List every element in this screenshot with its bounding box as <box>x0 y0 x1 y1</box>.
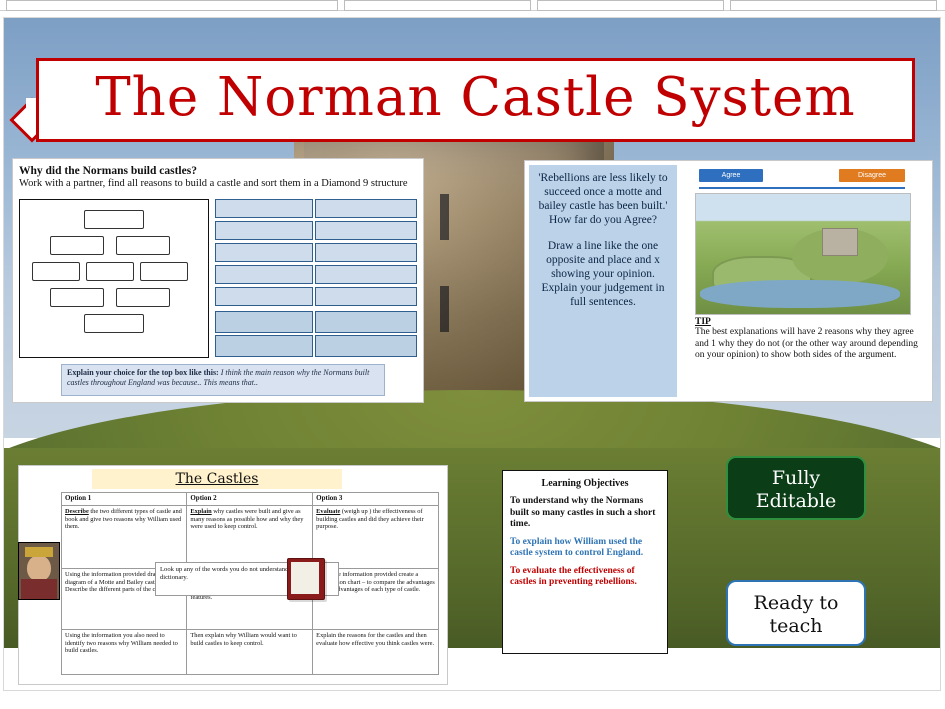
objective-3: To evaluate the effectiveness of castles… <box>503 563 667 592</box>
column-header: Option 3 <box>313 493 439 506</box>
disagree-label: Disagree <box>839 169 905 182</box>
portrait-face <box>27 555 51 581</box>
table-cell: Describe the two different types of cast… <box>62 506 187 569</box>
fully-editable-line2: Editable <box>728 490 864 513</box>
slide-canvas: The Norman Castle System Why did the Nor… <box>3 17 941 691</box>
tip-block: TIP The best explanations will have 2 re… <box>695 317 919 362</box>
opinion-prompt: 'Rebellions are less likely to succeed o… <box>529 165 677 233</box>
opinion-line <box>699 187 905 189</box>
worksheet-body <box>19 199 417 356</box>
cell-lead: Describe <box>65 508 89 515</box>
column-header: Option 2 <box>187 493 313 506</box>
opinion-line-card: 'Rebellions are less likely to succeed o… <box>524 160 933 402</box>
page-top-strip <box>0 0 945 11</box>
table-row: Describe the two different types of cast… <box>62 506 439 569</box>
diamond-cell <box>50 288 104 307</box>
objective-1: To understand why the Normans built so m… <box>503 493 667 534</box>
castles-title-box: The Castles <box>92 469 342 489</box>
grid-cell <box>215 335 313 357</box>
grid-cell <box>215 243 313 262</box>
worksheet-heading: Why did the Normans build castles? <box>13 159 423 177</box>
fully-editable-line1: Fully <box>728 467 864 490</box>
diamond-cell <box>32 262 80 281</box>
motte-and-bailey-illustration <box>695 193 911 315</box>
cell-lead: Evaluate <box>316 508 340 515</box>
ready-line1: Ready to <box>728 592 864 615</box>
page-title: The Norman Castle System <box>39 57 912 139</box>
grid-cell <box>315 311 417 333</box>
objective-2: To explain how William used the castle s… <box>503 534 667 563</box>
ready-line2: teach <box>728 615 864 638</box>
grid-cell <box>315 243 417 262</box>
worksheet-footer-label: Explain your choice for the top box like… <box>67 368 219 377</box>
grid-cell <box>315 221 417 240</box>
tip-text: The best explanations will have 2 reason… <box>695 327 919 362</box>
grid-cell <box>315 199 417 218</box>
king-william-portrait <box>18 542 60 600</box>
castles-task-card: The Castles Option 1 Option 2 Option 3 D… <box>18 465 448 685</box>
diamond-cell <box>84 314 144 333</box>
cell-lead: Explain <box>190 508 211 515</box>
ready-to-teach-badge: Ready to teach <box>726 580 866 646</box>
table-header-row: Option 1 Option 2 Option 3 <box>62 493 439 506</box>
learning-objectives-card: Learning Objectives To understand why th… <box>502 470 668 654</box>
reasons-grid <box>215 199 417 356</box>
objectives-heading: Learning Objectives <box>503 471 667 493</box>
moat-water <box>700 280 900 308</box>
dictionary-book-icon <box>287 552 327 600</box>
opinion-task: Draw a line like the one opposite and pl… <box>529 233 677 315</box>
grid-cell <box>215 199 313 218</box>
table-cell: Explain the reasons for the castles and … <box>313 630 439 675</box>
top-strip-segment <box>344 0 531 11</box>
tip-heading: TIP <box>695 317 919 327</box>
slide: The Norman Castle System Why did the Nor… <box>0 14 945 694</box>
opinion-prompt-panel: 'Rebellions are less likely to succeed o… <box>529 165 677 397</box>
fully-editable-badge: Fully Editable <box>726 456 866 520</box>
opinion-visual-panel: Agree Disagree TIP The best explanations… <box>681 165 928 397</box>
worksheet-footer-box: Explain your choice for the top box like… <box>61 364 385 396</box>
grid-cell <box>215 311 313 333</box>
top-strip-segment <box>730 0 937 11</box>
agree-label: Agree <box>699 169 763 182</box>
column-header: Option 1 <box>62 493 187 506</box>
worksheet-instruction: Work with a partner, find all reasons to… <box>13 177 423 193</box>
keep-tower-shape <box>822 228 858 256</box>
top-strip-segment <box>537 0 724 11</box>
grid-cell <box>315 335 417 357</box>
diamond-cell <box>116 288 170 307</box>
diamond-cell <box>84 210 144 229</box>
title-banner: The Norman Castle System <box>36 58 915 142</box>
crown-icon <box>25 547 53 557</box>
portrait-robe <box>21 579 57 599</box>
grid-cell <box>215 221 313 240</box>
book-pages <box>291 562 319 594</box>
table-cell: Evaluate (weigh up ) the effectiveness o… <box>313 506 439 569</box>
grid-cell <box>315 287 417 306</box>
top-strip-segment <box>6 0 338 11</box>
grid-cell <box>315 265 417 284</box>
grid-cell <box>215 287 313 306</box>
table-cell: Then explain why William would want to b… <box>187 630 313 675</box>
diamond9-worksheet-card: Why did the Normans build castles? Work … <box>12 158 424 403</box>
table-cell: Using the information you also need to i… <box>62 630 187 675</box>
castles-title: The Castles <box>92 469 342 489</box>
diamond-cell <box>50 236 104 255</box>
diamond9-frame <box>19 199 209 358</box>
page-bottom-edge <box>0 694 945 709</box>
grid-cell <box>215 265 313 284</box>
diamond-cell <box>86 262 134 281</box>
diamond-cell <box>140 262 188 281</box>
diamond-cell <box>116 236 170 255</box>
table-row: Using the information you also need to i… <box>62 630 439 675</box>
